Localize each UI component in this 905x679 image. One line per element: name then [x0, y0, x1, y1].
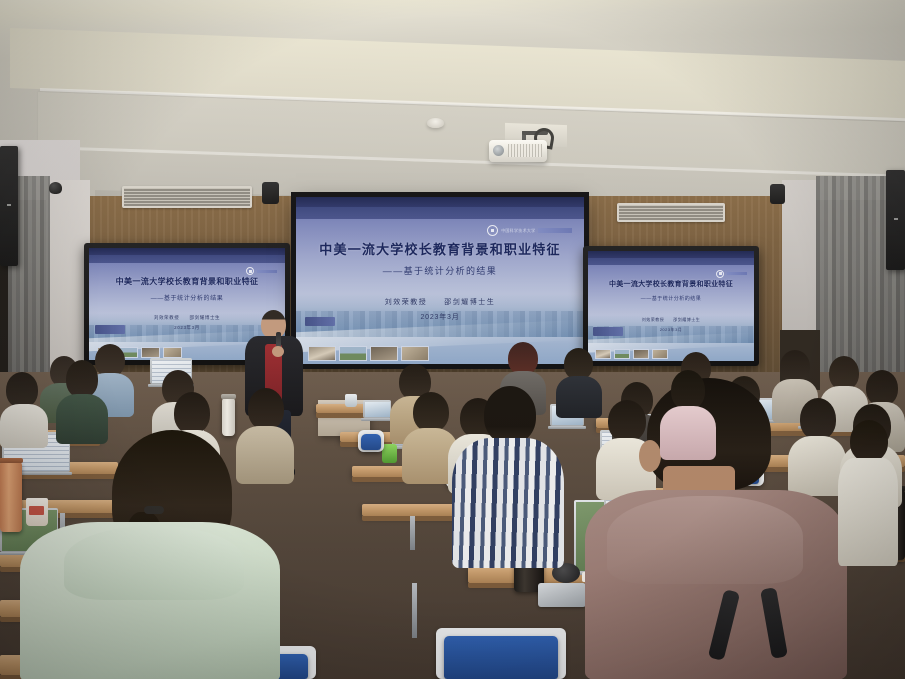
security-camera-icon [49, 182, 62, 194]
chair-back [361, 434, 381, 450]
student-striped-shirt [452, 386, 564, 566]
slide-subtitle: ——基于统计分析的结果 [89, 293, 285, 302]
slide-badge [593, 327, 623, 336]
ac-vent-right [617, 203, 725, 222]
slide-logo [716, 270, 747, 278]
slide-thumbnail [401, 346, 429, 361]
slide-badge [95, 325, 125, 334]
smoke-detector-icon [427, 118, 444, 128]
student-mint-hoodie-foreground [20, 430, 280, 679]
speaker-led-icon [894, 218, 898, 220]
slide-date: 2023年3月 [296, 312, 584, 322]
slide-authors: 刘效荣教授 邵剑耀博士生 [588, 317, 754, 323]
presenter-hand [272, 346, 284, 357]
student [660, 370, 716, 456]
chair-back-foreground [444, 636, 558, 679]
speaker-front-right [770, 184, 785, 204]
slide-thumbnail [614, 349, 630, 359]
speaker-left-wall [0, 146, 18, 266]
laptop[interactable] [363, 400, 391, 418]
paper-cup [382, 444, 397, 463]
slide-logo: 中国科学技术大学 [487, 225, 572, 236]
speaker-led-icon [7, 204, 11, 206]
slide-topbar-dark [296, 197, 584, 207]
ac-vent-left [122, 186, 252, 208]
student-hair-tie [144, 506, 164, 514]
student-head [66, 360, 98, 398]
slide-logo-circle-icon [487, 225, 498, 236]
slide-logo-circle-icon [246, 267, 254, 275]
slide-title: 中美一流大学校长教育背景和职业特征 [588, 279, 754, 289]
slide-thumbnail [633, 349, 649, 359]
slide-thumbnail [370, 346, 398, 361]
slide-logo-text: 中国科学技术大学 [501, 228, 535, 234]
student-head [174, 392, 210, 434]
slide-thumbnail [339, 346, 367, 361]
student [838, 420, 898, 560]
slide-subtitle: ——基于统计分析的结果 [296, 264, 584, 277]
slide-logo [246, 267, 277, 275]
thermos-bottle [0, 462, 22, 532]
paper-cup [345, 394, 357, 407]
slide-topbar-dark [89, 248, 285, 255]
thermos-cap [221, 394, 236, 399]
speaker-right-wall [886, 170, 905, 270]
student [56, 360, 108, 440]
student-torso [452, 438, 564, 568]
student-head [248, 388, 284, 430]
slide-authors: 刘效荣教授 邵剑耀博士生 [296, 297, 584, 307]
slide-logo-circle-icon [716, 270, 724, 278]
presentation-slide: 中国科学技术大学 中美一流大学校长教育背景和职业特征 ——基于统计分析的结果 刘… [296, 197, 584, 364]
student-head [6, 372, 38, 408]
ceiling-projector [489, 140, 547, 162]
student-torso [660, 406, 716, 460]
student-head [671, 370, 705, 410]
student-ear [639, 440, 661, 472]
hoodie-hood [607, 496, 803, 584]
student-head [484, 386, 536, 444]
slide-thumbnail [163, 347, 182, 358]
slide-title: 中美一流大学校长教育背景和职业特征 [89, 276, 285, 287]
student-torso [838, 458, 898, 566]
slide-logo-bar [257, 270, 277, 273]
slide-topbar-dark [588, 251, 754, 258]
desk-row-mid2-left [362, 504, 466, 516]
presenter-head [261, 310, 286, 339]
projector-vent [508, 144, 542, 157]
student-head [866, 370, 898, 406]
slide-title: 中美一流大学校长教育背景和职业特征 [296, 239, 584, 258]
smartphone-on-desk[interactable] [538, 583, 586, 607]
slide-thumbnails [595, 349, 668, 359]
slide-badge [305, 317, 335, 326]
student-head [850, 420, 888, 462]
slide-thumbnail [141, 347, 160, 358]
lecture-hall-photo: 中美一流大学校长教育背景和职业特征 ——基于统计分析的结果 刘效荣教授 邵剑耀博… [0, 0, 905, 679]
slide-logo-bar [727, 272, 747, 275]
desk-leg [410, 516, 415, 550]
slide-logo-bar [538, 228, 572, 233]
slide-right-copy: 中美一流大学校长教育背景和职业特征 ——基于统计分析的结果 刘效荣教授 邵剑耀博… [588, 251, 754, 361]
student-head [413, 392, 449, 432]
slide-subtitle: ——基于统计分析的结果 [588, 295, 754, 302]
projection-screen[interactable]: 中国科学技术大学 中美一流大学校长教育背景和职业特征 ——基于统计分析的结果 刘… [296, 197, 584, 364]
wall-display-right[interactable]: 中美一流大学校长教育背景和职业特征 ——基于统计分析的结果 刘效荣教授 邵剑耀博… [583, 246, 759, 366]
laptop-screen [363, 400, 391, 418]
laptop-base [361, 418, 393, 421]
hoodie-hood [64, 526, 244, 600]
slide-thumbnails [308, 346, 429, 361]
slide-thumbnail [652, 349, 668, 359]
speaker-front-left [262, 182, 279, 204]
projector-lens-icon [493, 145, 504, 156]
desk-leg [412, 583, 417, 638]
slide-thumbnail [308, 346, 336, 361]
